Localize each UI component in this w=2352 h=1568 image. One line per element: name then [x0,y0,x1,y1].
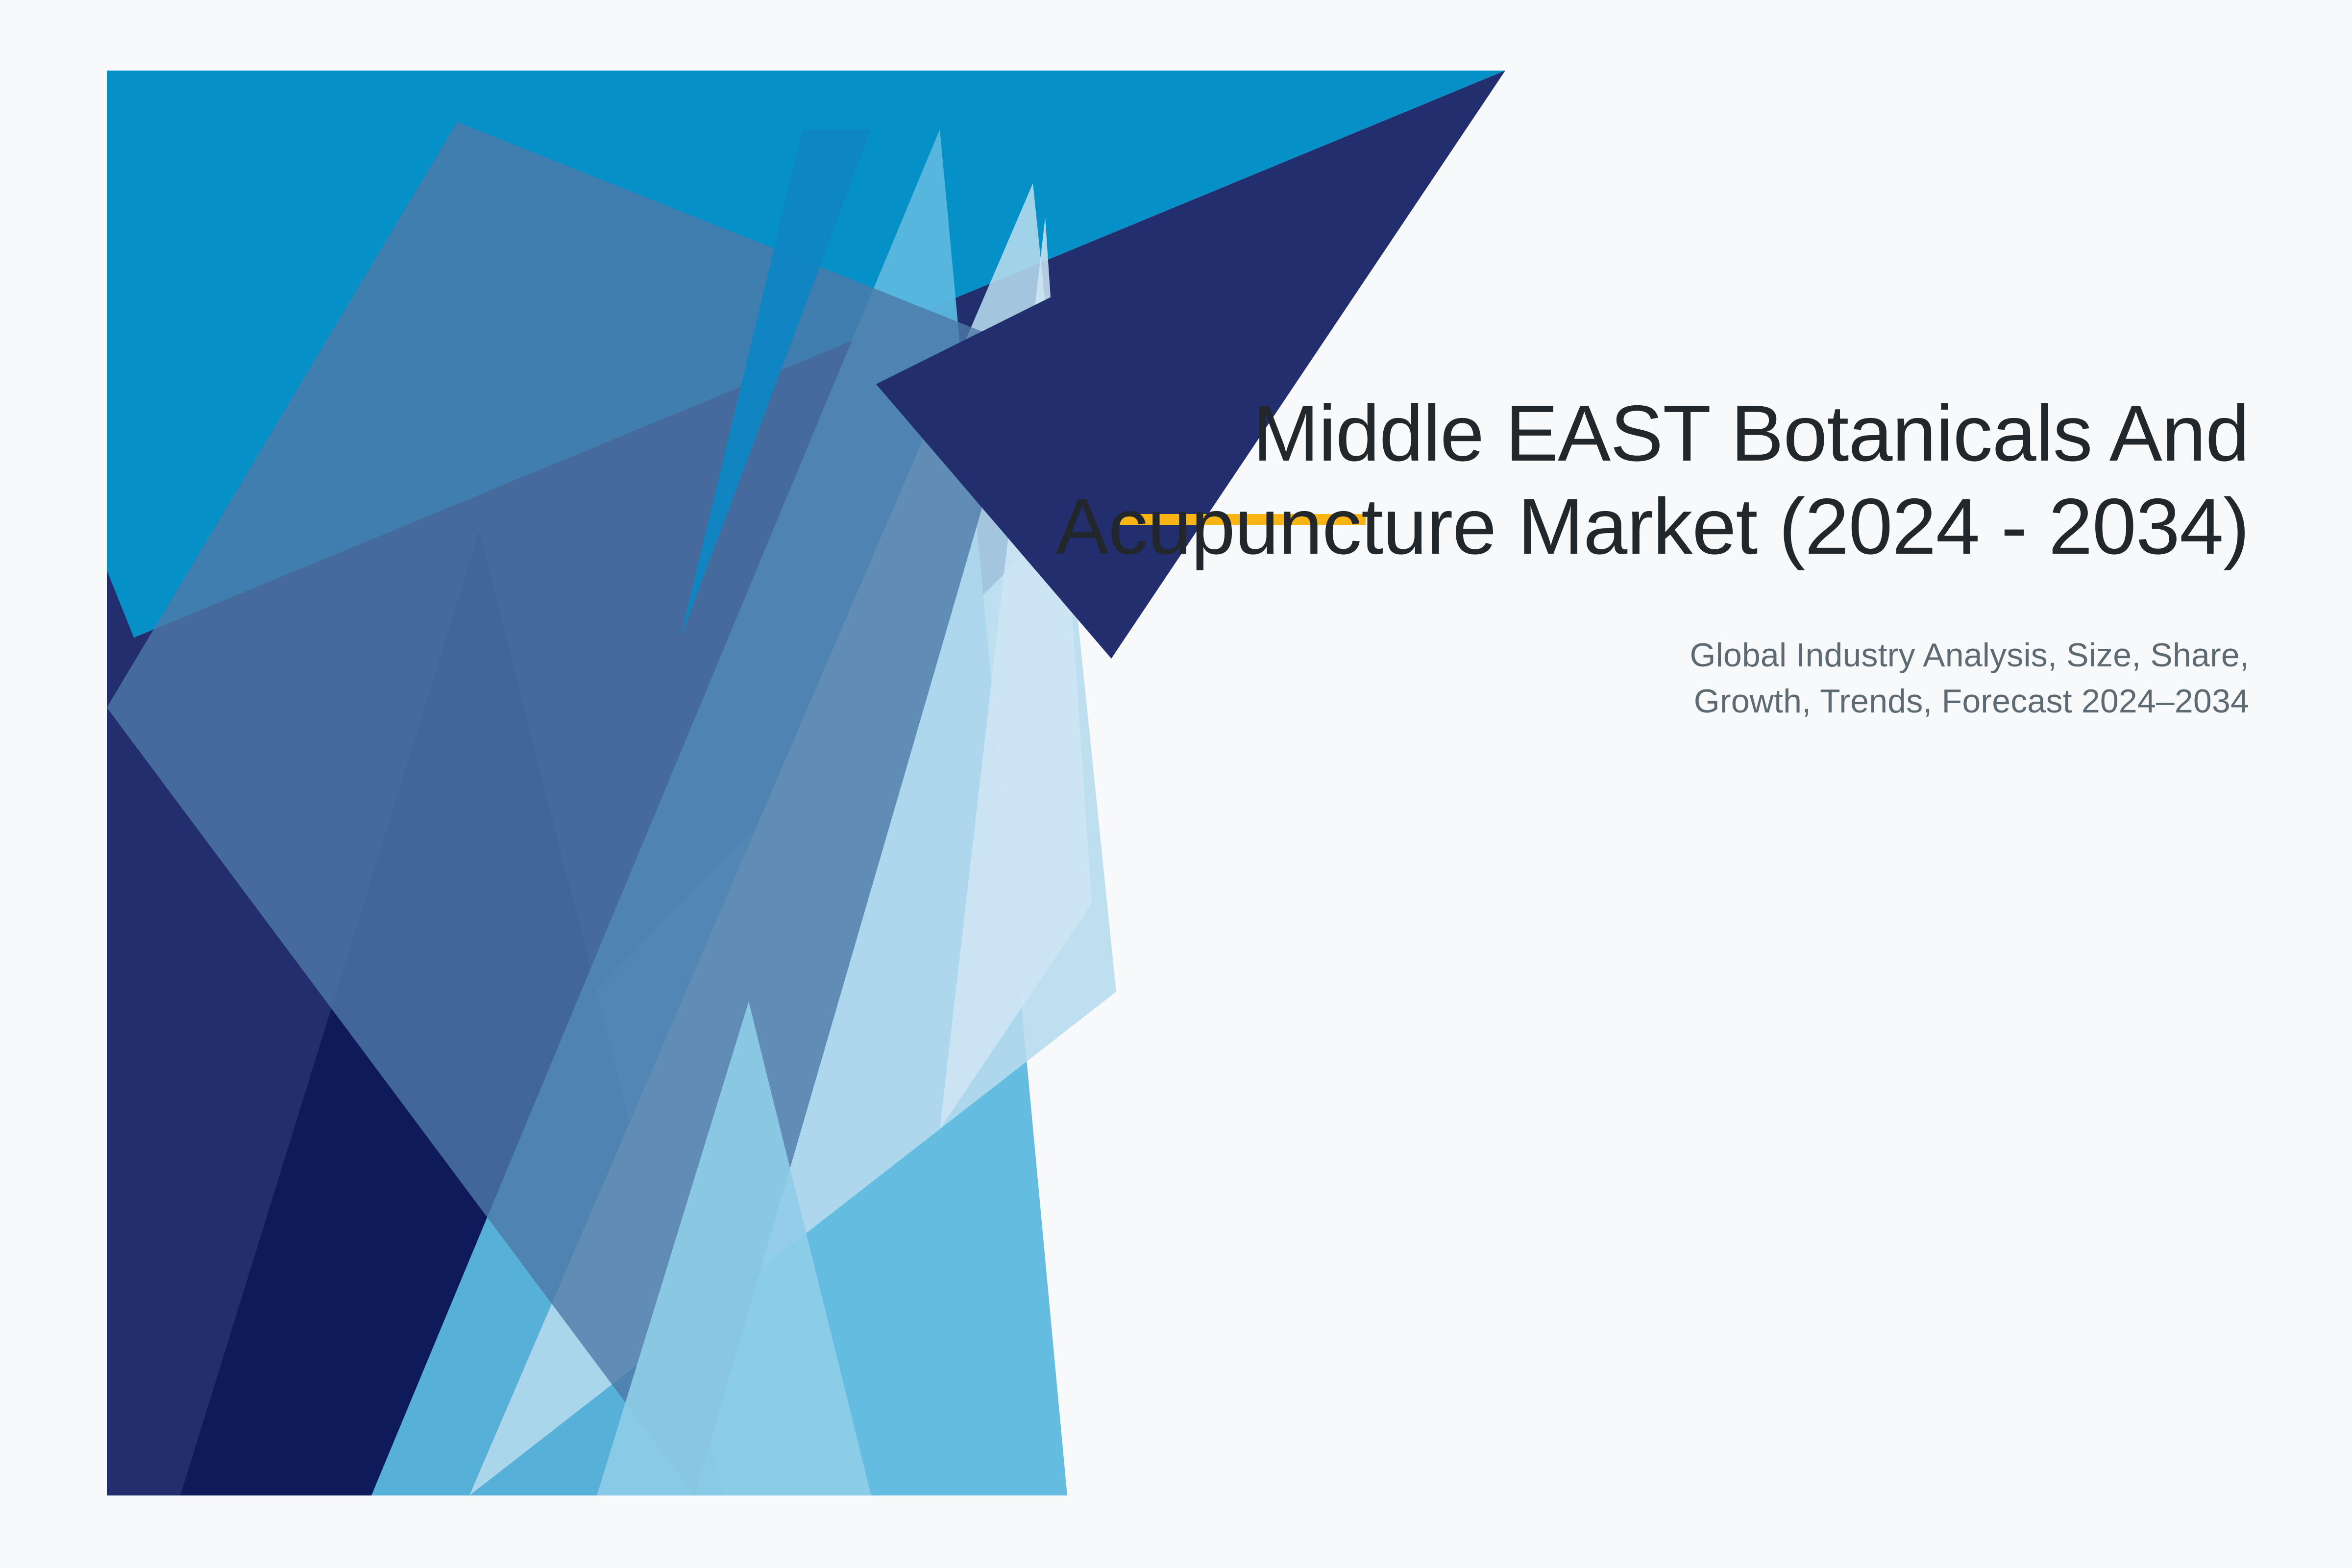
title-line-1: Middle EAST Botanicals And [1253,389,2249,478]
cover-text-block: Middle EAST Botanicals And Acupuncture M… [882,387,2249,725]
subtitle-line-1: Global Industry Analysis, Size, Share, [1690,637,2250,674]
title-line-2: Acupuncture Market (2024 - 2034) [882,480,2249,573]
page-title: Middle EAST Botanicals And Acupuncture M… [882,387,2249,573]
report-cover-page: Middle EAST Botanicals And Acupuncture M… [0,0,2352,1568]
subtitle-line-2: Growth, Trends, Forecast 2024–2034 [1694,683,2249,720]
abstract-polygon-graphic [107,71,1505,1495]
page-subtitle: Global Industry Analysis, Size, Share, G… [882,633,2249,725]
